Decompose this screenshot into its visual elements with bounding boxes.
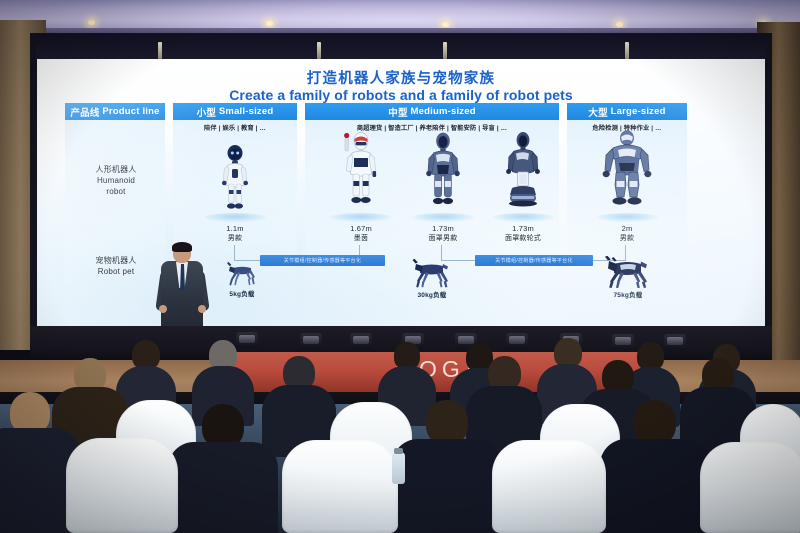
medium-robot-dog-icon [405, 258, 459, 288]
robot-pedestal [492, 213, 554, 222]
audience-chair [700, 442, 800, 533]
row-label-humanoid: 人形机器人 Humanoid robot [71, 164, 161, 197]
medium-humanoid-robot-white-icon [341, 131, 381, 217]
platform-bar-2: 关节模组/控制器/传感器等平台化 [475, 255, 593, 266]
column-header-cn: 大型 [588, 105, 607, 119]
audience-chair [282, 440, 398, 533]
truss-light [443, 42, 447, 59]
stage-moving-light [300, 333, 322, 349]
pet-load-large: 75kg负载 [613, 289, 642, 299]
humanoid-cell-small: 1.1m 男款 [201, 143, 269, 244]
row-label-en-line1: Robot pet [71, 266, 161, 277]
robot-height: 1.73m [429, 224, 458, 234]
truss-light [158, 42, 162, 59]
slide-title-english: Create a family of robots and a family o… [37, 87, 765, 103]
robot-height: 1.1m [226, 224, 243, 234]
row-label-en-line1: Humanoid [71, 175, 161, 186]
audience-member [0, 392, 68, 492]
audience-member [406, 400, 488, 505]
column-panel-product-line [65, 119, 165, 314]
humanoid-spec-medium-1: 1.67m 墨茵 [350, 224, 372, 244]
column-header-large: 大型 Large-sized [567, 103, 687, 120]
stage-moving-light [350, 333, 372, 349]
humanoid-cell-medium-1: 1.67m 墨茵 [327, 131, 395, 244]
audience-body [600, 439, 712, 533]
column-subheader-small: 陪伴 | 娱乐 | 教育 | … [173, 121, 297, 133]
pet-cell-large: 75kg负载 [592, 256, 664, 299]
stage-moving-light [506, 333, 528, 349]
robot-height: 1.73m [505, 224, 541, 234]
humanoid-cell-large: 2m 男款 [593, 127, 661, 244]
column-header-cn: 产品线 [70, 105, 99, 119]
audience-member [196, 340, 252, 410]
speaker-left-hand [159, 305, 167, 313]
water-bottle [392, 452, 405, 484]
column-header-cn: 小型 [197, 105, 216, 119]
humanoid-spec-medium-3: 1.73m 面罩款轮式 [505, 224, 541, 244]
robot-pedestal [596, 213, 658, 222]
column-header-product-line: 产品线 Product line [65, 103, 165, 120]
medium-humanoid-robot-masked-icon [423, 131, 463, 217]
truss-light [317, 42, 321, 59]
audience-chair [66, 438, 178, 533]
audience-body [392, 439, 502, 533]
bottle-cap [394, 448, 403, 454]
large-humanoid-robot-icon [601, 127, 653, 217]
speaker-hair [172, 242, 192, 252]
ceiling-spot-light [616, 22, 623, 27]
humanoid-spec-small: 1.1m 男款 [226, 224, 243, 244]
small-robot-dog-icon [220, 259, 264, 287]
conference-room-photo: 打造机器人家族与宠物家族 Create a family of robots a… [0, 0, 800, 533]
humanoid-spec-medium-2: 1.73m 面罩男款 [429, 224, 458, 244]
robot-name: 面罩款轮式 [505, 234, 541, 244]
row-label-en-line2: robot [71, 186, 161, 197]
robot-pedestal [330, 213, 392, 222]
robot-height: 1.67m [350, 224, 372, 234]
presentation-slide: 打造机器人家族与宠物家族 Create a family of robots a… [37, 59, 765, 327]
robot-name: 墨茵 [350, 234, 372, 244]
audience-body [168, 442, 278, 533]
column-header-medium: 中型 Medium-sized [305, 103, 559, 120]
humanoid-spec-large: 2m 男款 [620, 224, 634, 244]
row-label-robot-pet: 宠物机器人 Robot pet [71, 255, 161, 277]
small-humanoid-robot-icon [218, 143, 252, 217]
pet-cell-medium: 30kg负载 [397, 258, 467, 299]
column-header-en: Large-sized [611, 106, 666, 117]
robot-name: 男款 [620, 234, 634, 244]
truss-light [625, 42, 629, 59]
screen-top-dark-band [36, 34, 766, 60]
column-header-en: Small-sized [219, 106, 273, 117]
robot-name: 面罩男款 [429, 234, 458, 244]
robot-pedestal [204, 213, 266, 222]
column-header-en: Medium-sized [411, 106, 476, 117]
pet-load-medium: 30kg负载 [417, 289, 446, 299]
audience-member [268, 356, 330, 434]
ceiling-spot-light [442, 22, 449, 27]
audience-member [182, 404, 264, 509]
humanoid-cell-medium-3: 1.73m 面罩款轮式 [489, 131, 557, 244]
pet-load-small: 5kg负载 [229, 288, 254, 298]
column-header-en: Product line [102, 106, 159, 117]
platform-bar-1: 关节模组/控制器/传感器等平台化 [260, 255, 385, 266]
ceiling-spot-light [88, 20, 95, 25]
slide-title-chinese: 打造机器人家族与宠物家族 [37, 67, 765, 88]
robot-pedestal [412, 213, 474, 222]
row-label-cn: 人形机器人 [71, 164, 161, 175]
medium-humanoid-robot-wheeled-icon [501, 131, 545, 217]
audience-member [614, 400, 696, 505]
large-robot-panther-icon [598, 256, 658, 288]
speaker-right-hand [198, 305, 206, 313]
robot-height: 2m [620, 224, 634, 234]
audience-chair [492, 440, 606, 533]
column-header-cn: 中型 [388, 105, 407, 119]
humanoid-cell-medium-2: 1.73m 面罩男款 [409, 131, 477, 244]
ceiling-spot-light [266, 21, 273, 26]
robot-name: 男款 [226, 234, 243, 244]
column-header-small: 小型 Small-sized [173, 103, 297, 120]
row-label-cn: 宠物机器人 [71, 255, 161, 266]
pet-cell-small: 5kg负载 [212, 259, 272, 298]
